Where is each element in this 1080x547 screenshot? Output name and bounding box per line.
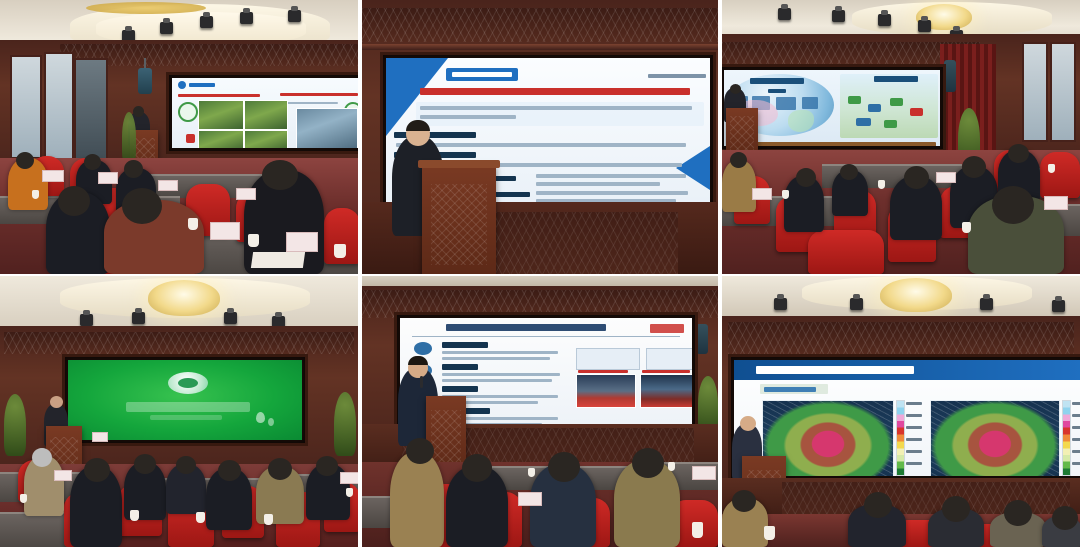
led-screen-frame [166, 72, 358, 154]
podium-name-card [92, 432, 108, 442]
ceiling-gold-trim [86, 2, 206, 14]
bullet-body [442, 373, 560, 376]
legend-label-night [1072, 450, 1080, 453]
photo-panel-3[interactable] [722, 0, 1080, 274]
spotlight [850, 298, 863, 310]
bullet-heading [442, 342, 488, 348]
lattice-frieze [4, 332, 354, 354]
photo-panel-2[interactable] [362, 0, 718, 274]
attendee-head [462, 454, 492, 482]
mug [528, 468, 535, 477]
spotlight [224, 312, 237, 324]
attendee-foreground [390, 452, 444, 547]
attendee-head [962, 156, 986, 178]
speaker-head [730, 84, 741, 94]
wall-light-panel [44, 52, 74, 160]
illustration-icon [910, 108, 923, 116]
attendee-head [134, 454, 156, 474]
mug [130, 510, 139, 521]
slide-title-right [280, 93, 358, 96]
name-card [210, 222, 240, 240]
name-card [340, 472, 358, 484]
illustration-title [874, 76, 918, 82]
attendee-head [16, 152, 34, 169]
wall-light-panel [1050, 42, 1076, 142]
speaker-hanging-unit [138, 68, 152, 94]
lattice-frieze [362, 8, 718, 42]
name-card [286, 232, 318, 252]
attendee-head [992, 186, 1034, 224]
noise-legend-day [896, 400, 905, 476]
mug [962, 222, 971, 233]
slide-title-plate [126, 402, 250, 412]
legend-label-day [906, 450, 922, 453]
speaker-head [50, 396, 63, 408]
speaker-head [740, 416, 756, 431]
illustration-icon [848, 96, 861, 104]
slide-keypoint-detail [536, 174, 686, 178]
chandelier [880, 278, 952, 312]
spotlight [832, 10, 845, 22]
legend-label-day [906, 426, 922, 429]
mug [188, 218, 198, 230]
led-screen [172, 78, 358, 148]
illustration-icon [890, 98, 903, 106]
attendee-head [84, 154, 101, 170]
attendee-head [796, 168, 816, 187]
mug [346, 488, 353, 497]
chair [1040, 152, 1080, 198]
noise-map-night [930, 400, 1060, 476]
name-card [518, 492, 542, 506]
spotlight [1052, 300, 1065, 312]
spotlight [918, 20, 931, 32]
slide-subtext [284, 102, 338, 104]
mug [32, 190, 39, 199]
mug [782, 190, 789, 199]
photo-panel-1[interactable] [0, 0, 358, 274]
attendee-head [730, 152, 747, 168]
attendee-head [1008, 144, 1029, 163]
notebook [251, 252, 305, 268]
slide-title-text [756, 366, 914, 374]
spotlight [778, 8, 791, 20]
slide-subtitle [768, 89, 786, 93]
attendee-head [942, 496, 970, 522]
attendee-head [32, 448, 52, 467]
legend-label-night [1072, 414, 1080, 417]
plant [334, 392, 356, 456]
figure-caption [642, 370, 690, 373]
chair [808, 230, 884, 274]
slide-droplet [256, 412, 265, 423]
microphone [420, 376, 423, 388]
slide-section-body [396, 143, 686, 147]
slide-droplet [268, 418, 274, 426]
speaker-head [133, 106, 144, 117]
legend-label-night [1072, 462, 1080, 465]
slide-footer-formula [746, 142, 936, 146]
figure-caption [578, 370, 628, 373]
attendee-head [176, 456, 196, 474]
attendee-head [406, 438, 434, 464]
mug [1048, 164, 1055, 173]
slide-tag-text [452, 72, 512, 77]
slide-title [446, 324, 606, 331]
slide-bullet-marker [186, 134, 195, 143]
legend-label-day [906, 462, 922, 465]
attendee-head [262, 160, 298, 190]
figure-diagram [576, 348, 640, 370]
name-card [98, 172, 118, 184]
legend-label-day [906, 438, 922, 441]
illustration-icon [884, 120, 897, 128]
legend-label-night [1072, 438, 1080, 441]
slide-red-headline [420, 88, 690, 95]
spotlight [80, 314, 93, 326]
doorway [74, 58, 108, 168]
spotlight [980, 298, 993, 310]
bullet-heading [442, 386, 478, 392]
globe-label [802, 97, 818, 109]
illustration-icon [868, 104, 881, 112]
name-card [936, 172, 956, 183]
attendee-head [268, 458, 292, 480]
bullet-heading [442, 364, 478, 370]
slide-quote-line [420, 106, 692, 110]
attendee-head [632, 448, 664, 478]
led-screen [68, 360, 302, 440]
chandelier [148, 280, 220, 316]
name-card [1044, 196, 1068, 210]
mug [196, 512, 205, 523]
podium-top [418, 160, 500, 168]
name-card [692, 466, 716, 480]
attendee-head [732, 490, 756, 512]
attendee-head [122, 188, 162, 224]
plant [122, 112, 136, 162]
slide-title-left [178, 94, 260, 97]
photo-collage [0, 0, 1080, 547]
attendee-head [548, 452, 580, 482]
name-card [158, 180, 178, 191]
noise-legend-night [1062, 400, 1071, 476]
slide-eco-logo-inner [178, 378, 198, 388]
podium [726, 108, 758, 154]
attendee-head [218, 460, 241, 481]
spotlight [132, 312, 145, 324]
slide-logo [178, 81, 186, 89]
legend-label-day [906, 402, 922, 405]
slide-title-underline [412, 336, 680, 337]
photo-panel-5[interactable] [362, 276, 718, 547]
legend-label-day [906, 414, 922, 417]
name-card [752, 188, 772, 200]
bullet-body [442, 379, 552, 382]
slide-photo [198, 100, 244, 130]
spotlight [240, 12, 253, 24]
attendee-head [840, 164, 858, 180]
photo-panel-4[interactable] [0, 276, 358, 547]
mug [668, 462, 675, 471]
slide-subtitle-plate [150, 415, 222, 420]
figure-diagram [646, 348, 692, 370]
slide-photo [244, 130, 288, 148]
attendee-head [84, 458, 110, 482]
bullet-body [442, 357, 550, 360]
slide-photo-aerial [296, 108, 358, 148]
slide-quote-line [420, 115, 516, 119]
podium [422, 164, 496, 274]
eco-badge-left [178, 102, 198, 122]
attendee-head [904, 166, 929, 189]
spotlight [160, 22, 173, 34]
wall-light-panel [1022, 42, 1048, 142]
attendee-head [124, 160, 143, 178]
attendee-head [1052, 506, 1078, 530]
spotlight [200, 16, 213, 28]
spotlight [288, 10, 301, 22]
mug [264, 514, 273, 525]
spotlight [878, 14, 891, 26]
wall-light-panel [10, 55, 42, 159]
slide-logo-text [189, 83, 215, 87]
slide-photo [244, 100, 288, 130]
speaker-hair [408, 356, 428, 365]
illustration-icon [856, 118, 871, 126]
slide-corner-logo [650, 324, 684, 333]
mug [20, 494, 27, 503]
wall-molding [362, 44, 718, 50]
bullet-icon [414, 342, 432, 355]
figure-photo [576, 374, 636, 408]
legend-label-night [1072, 426, 1080, 429]
plant [4, 394, 26, 456]
slide-photo [198, 130, 244, 148]
slide-keypoint-detail [536, 182, 660, 186]
slide-title [750, 78, 804, 84]
name-card [236, 188, 256, 200]
lattice-frieze [728, 322, 1074, 354]
slide-keypoint-detail [536, 191, 688, 195]
mug [692, 522, 703, 538]
mug [248, 234, 259, 247]
attendee-head [1004, 500, 1032, 526]
globe-label [776, 97, 796, 110]
slide-corner-note [648, 74, 706, 78]
mug [764, 526, 775, 540]
mug [878, 180, 885, 189]
attendee-head [864, 492, 892, 518]
attendee-head [58, 186, 90, 216]
legend-label-night [1072, 402, 1080, 405]
photo-panel-6[interactable] [722, 276, 1080, 547]
slide-section-text [764, 387, 816, 392]
figure-photo [640, 374, 692, 408]
mug [334, 244, 346, 258]
attendee-head [316, 456, 338, 476]
name-card [42, 170, 64, 182]
bullet-body [442, 351, 558, 354]
spotlight [774, 298, 787, 310]
illustration-panel [840, 74, 938, 138]
name-card [54, 470, 72, 481]
